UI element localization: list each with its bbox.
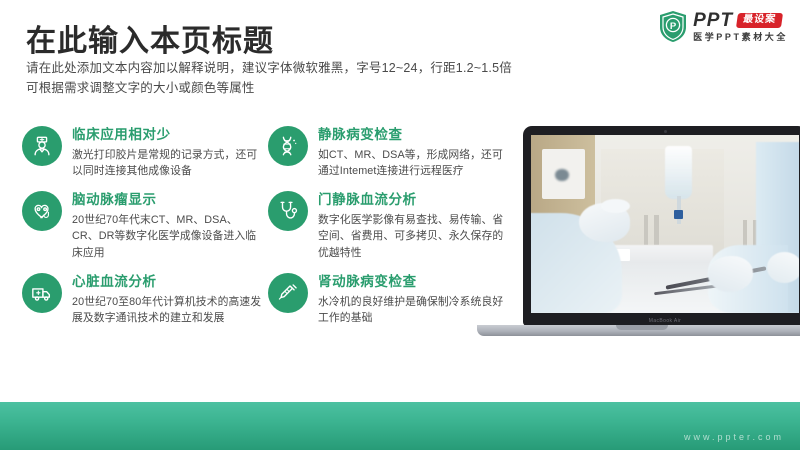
laptop-base: [477, 325, 800, 336]
laptop-screen-image: [531, 135, 799, 313]
feature-description: 20世纪70至80年代计算机技术的高速发展及数字通讯技术的建立和发展: [72, 294, 262, 326]
subtitle-line-1: 请在此处添加文本内容加以解释说明，建议字体微软雅黑，字号12~24，行距1.2~…: [26, 58, 512, 78]
feature-title: 心脏血流分析: [72, 274, 262, 291]
dna-icon: [268, 126, 308, 166]
doctor-icon: [22, 126, 62, 166]
webcam-icon: [664, 130, 667, 133]
page-subtitle: 请在此处添加文本内容加以解释说明，建议字体微软雅黑，字号12~24，行距1.2~…: [26, 58, 512, 99]
syringe-icon: [268, 273, 308, 313]
feature-item-portal-vein-flow[interactable]: 门静脉血流分析 数字化医学影像有易查找、易传输、省空间、省费用、可多拷贝、永久保…: [268, 191, 508, 260]
page-title: 在此输入本页标题: [26, 16, 274, 60]
slide-canvas: P PPT 最设案 医学PPT素材大全 在此输入本页标题 请在此处添加文本内容加…: [0, 0, 800, 450]
footer-bar: www.ppter.com: [0, 402, 800, 450]
logo-primary-row: PPT 最设案: [693, 11, 788, 30]
ambulance-icon: [22, 273, 62, 313]
feature-item-cardiac-blood-flow[interactable]: 心脏血流分析 20世纪70至80年代计算机技术的高速发展及数字通讯技术的建立和发…: [22, 273, 262, 326]
footer-url: www.ppter.com: [684, 432, 784, 442]
feature-item-venous-lesion-exam[interactable]: 静脉病变检查 如CT、MR、DSA等，形成网络，还可通过Intemet连接进行远…: [268, 126, 508, 179]
feature-title: 临床应用相对少: [72, 127, 262, 144]
logo-ppt-text: PPT: [693, 11, 733, 30]
logo-tagline: 医学PPT素材大全: [693, 33, 788, 42]
laptop-notch: [616, 325, 668, 330]
feature-item-renal-artery-exam[interactable]: 肾动脉病变检查 水冷机的良好维护是确保制冷系统良好工作的基础: [268, 273, 508, 326]
laptop-model-label: MacBook Air: [523, 318, 800, 324]
logo-text-group: PPT 最设案 医学PPT素材大全: [693, 11, 788, 42]
feature-description: 20世纪70年代末CT、MR、DSA、CR、DR等数字化医学成像设备进入临床应用: [72, 212, 262, 261]
stethoscope-icon: [268, 191, 308, 231]
subtitle-line-2: 可根据需求调整文字的大小或颜色等属性: [26, 78, 512, 98]
shield-letter: P: [670, 21, 677, 32]
shield-icon: P: [658, 10, 688, 43]
brand-logo: P PPT 最设案 医学PPT素材大全: [658, 10, 788, 43]
heart-stethoscope-icon: [22, 191, 62, 231]
feature-text-group: 临床应用相对少 激光打印胶片是常规的记录方式，还可以同时连接其他成像设备: [72, 126, 262, 179]
feature-item-clinical-application[interactable]: 临床应用相对少 激光打印胶片是常规的记录方式，还可以同时连接其他成像设备: [22, 126, 262, 179]
logo-badge: 最设案: [736, 13, 783, 28]
laptop-lid: MacBook Air: [523, 126, 800, 326]
feature-item-brain-aneurysm[interactable]: 脑动脉瘤显示 20世纪70年代末CT、MR、DSA、CR、DR等数字化医学成像设…: [22, 191, 262, 260]
feature-text-group: 脑动脉瘤显示 20世纪70年代末CT、MR、DSA、CR、DR等数字化医学成像设…: [72, 191, 262, 260]
feature-column-left: 临床应用相对少 激光打印胶片是常规的记录方式，还可以同时连接其他成像设备 脑动脉…: [22, 126, 262, 338]
feature-title: 脑动脉瘤显示: [72, 192, 262, 209]
laptop-mockup: MacBook Air: [477, 126, 800, 351]
feature-text-group: 心脏血流分析 20世纪70至80年代计算机技术的高速发展及数字通讯技术的建立和发…: [72, 273, 262, 326]
feature-description: 激光打印胶片是常规的记录方式，还可以同时连接其他成像设备: [72, 147, 262, 179]
feature-column-right: 静脉病变检查 如CT、MR、DSA等，形成网络，还可通过Intemet连接进行远…: [268, 126, 508, 338]
